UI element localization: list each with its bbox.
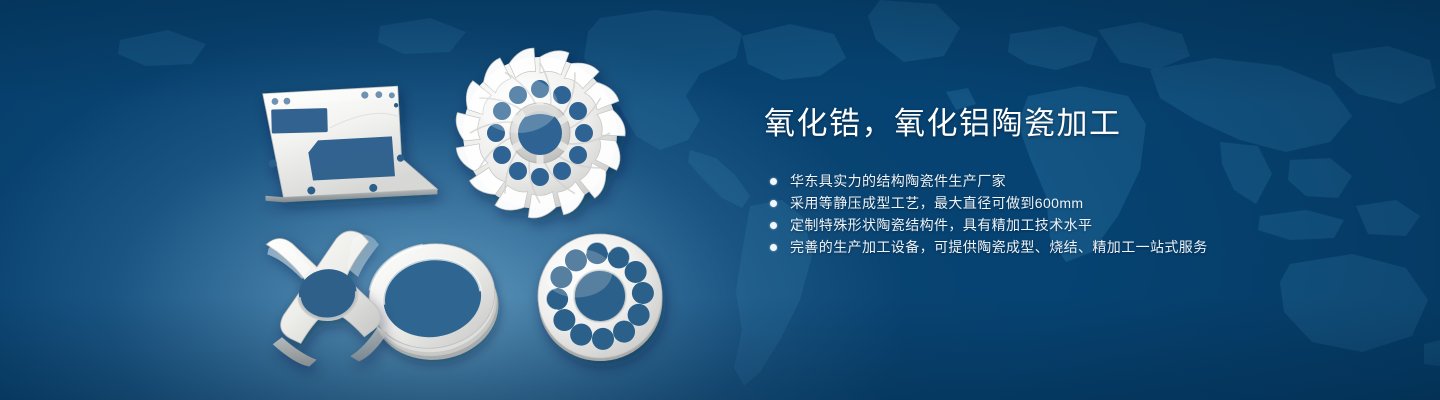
list-item: 定制特殊形状陶瓷结构件，具有精加工技术水平 <box>768 214 1364 236</box>
machined-ceramic-plate <box>263 85 438 202</box>
ceramic-products-banner: 氧化锆，氧化铝陶瓷加工 华东具实力的结构陶瓷件生产厂家 采用等静压成型工艺，最大… <box>0 0 1440 400</box>
ceramic-impeller-wheel <box>454 46 627 219</box>
ceramic-product-photos <box>0 0 760 400</box>
list-item: 华东具实力的结构陶瓷件生产厂家 <box>768 170 1364 192</box>
list-item: 采用等静压成型工艺，最大直径可做到600mm <box>768 192 1364 214</box>
page-title: 氧化锆，氧化铝陶瓷加工 <box>764 104 1364 144</box>
bullet-dot-icon <box>770 222 777 229</box>
feature-list: 华东具实力的结构陶瓷件生产厂家 采用等静压成型工艺，最大直径可做到600mm 定… <box>764 170 1364 258</box>
list-item: 完善的生产加工设备，可提供陶瓷成型、烧结、精加工一站式服务 <box>768 236 1364 258</box>
list-item-label: 采用等静压成型工艺，最大直径可做到600mm <box>790 195 1083 211</box>
ceramic-ring <box>362 235 505 368</box>
list-item-label: 定制特殊形状陶瓷结构件，具有精加工技术水平 <box>790 217 1092 233</box>
perforated-ceramic-disc <box>534 230 667 365</box>
bullet-dot-icon <box>770 178 777 185</box>
banner-copy: 氧化锆，氧化铝陶瓷加工 华东具实力的结构陶瓷件生产厂家 采用等静压成型工艺，最大… <box>764 104 1364 258</box>
list-item-label: 华东具实力的结构陶瓷件生产厂家 <box>790 173 1006 189</box>
bullet-dot-icon <box>770 200 777 207</box>
list-item-label: 完善的生产加工设备，可提供陶瓷成型、烧结、精加工一站式服务 <box>790 239 1208 255</box>
bullet-dot-icon <box>770 244 777 251</box>
